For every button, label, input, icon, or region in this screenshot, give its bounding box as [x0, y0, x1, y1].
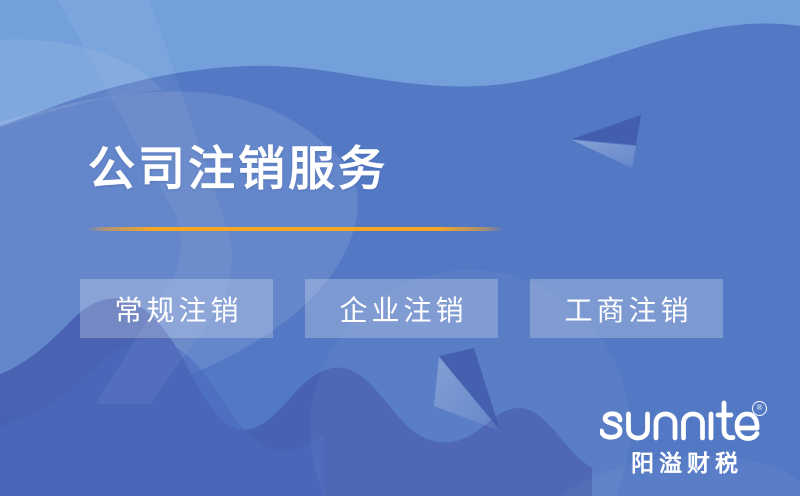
service-tag-industrial-commercial[interactable]: 工商注销: [530, 279, 723, 338]
brand-name-chinese: 阳溢财税: [626, 444, 743, 478]
sunnite-wordmark-icon: [600, 400, 760, 446]
promo-banner: 公司注销服务 常规注销 企业注销 工商注销: [0, 0, 800, 496]
service-tag-list: 常规注销 企业注销 工商注销: [80, 279, 723, 338]
title-divider: [86, 225, 504, 233]
gold-divider-line: [86, 227, 504, 231]
service-tag-enterprise[interactable]: 企业注销: [305, 279, 498, 338]
registered-trademark-icon: ®: [752, 401, 767, 416]
page-title: 公司注销服务: [88, 140, 388, 198]
banner-content: 公司注销服务 常规注销 企业注销 工商注销: [0, 0, 800, 496]
brand-logo: ® 阳溢财税: [600, 400, 768, 476]
service-tag-regular[interactable]: 常规注销: [80, 279, 273, 338]
